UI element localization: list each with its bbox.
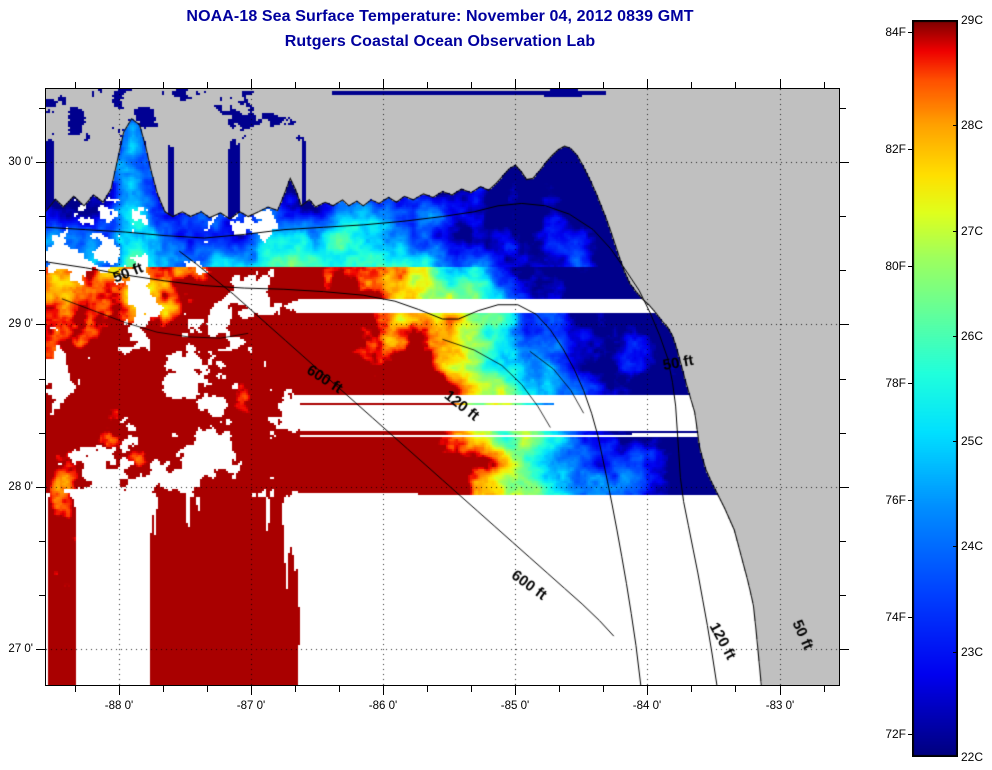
colorbar-tick-fahrenheit [908,617,913,618]
colorbar-gradient [912,20,958,757]
colorbar-tick-celsius [953,441,958,442]
y-tick-right [840,649,849,650]
x-tick-top [207,82,208,88]
x-tick-bottom [647,686,648,695]
colorbar-label-celsius: 28C [961,118,983,132]
x-axis-label: -84 0' [633,700,661,712]
colorbar-label-fahrenheit: 76F [876,493,906,507]
x-axis-label: -87 0' [237,700,265,712]
y-tick-right [840,162,849,163]
x-tick-bottom [163,686,164,692]
y-tick-left [39,216,45,217]
x-tick-bottom [383,686,384,695]
colorbar-label-fahrenheit: 72F [876,727,906,741]
colorbar-label-celsius: 23C [961,645,983,659]
x-tick-bottom [515,686,516,695]
x-axis-label: -88 0' [105,700,133,712]
y-tick-right [840,433,846,434]
chart-title: NOAA-18 Sea Surface Temperature: Novembe… [0,4,880,54]
x-tick-bottom [339,686,340,692]
y-tick-left [36,162,45,163]
colorbar-label-fahrenheit: 84F [876,25,906,39]
x-axis-label: -86 0' [369,700,397,712]
x-tick-bottom [824,686,825,692]
y-axis-label: 27 0' [0,643,33,655]
x-tick-bottom [559,686,560,692]
y-tick-left [36,487,45,488]
y-tick-left [39,433,45,434]
x-tick-bottom [471,686,472,692]
y-tick-left [36,324,45,325]
colorbar-tick-fahrenheit [908,500,913,501]
title-line-2: Rutgers Coastal Ocean Observation Lab [0,29,880,54]
colorbar-label-fahrenheit: 82F [876,142,906,156]
colorbar-tick-celsius [953,336,958,337]
y-tick-right [840,541,846,542]
y-axis-label: 29 0' [0,318,33,330]
y-tick-left [36,649,45,650]
colorbar-tick-fahrenheit [908,383,913,384]
y-tick-right [840,324,849,325]
x-tick-top [339,82,340,88]
x-tick-bottom [603,686,604,692]
y-tick-right [840,216,846,217]
bathymetry-contour-layer [46,89,839,685]
x-tick-bottom [780,686,781,695]
y-tick-right [840,595,846,596]
colorbar-label-celsius: 27C [961,224,983,238]
y-tick-right [840,270,846,271]
x-tick-top [824,82,825,88]
x-tick-top [515,79,516,88]
x-tick-bottom [251,686,252,695]
x-axis-label: -83 0' [766,700,794,712]
x-tick-top [691,82,692,88]
colorbar-label-celsius: 22C [961,750,983,764]
y-tick-left [39,541,45,542]
x-tick-top [163,82,164,88]
y-axis-label: 28 0' [0,481,33,493]
x-tick-top [647,79,648,88]
x-tick-bottom [735,686,736,692]
colorbar-label-fahrenheit: 74F [876,610,906,624]
colorbar-label-fahrenheit: 78F [876,376,906,390]
x-tick-top [251,79,252,88]
colorbar-tick-fahrenheit [908,734,913,735]
y-tick-right [840,108,846,109]
colorbar-tick-celsius [953,125,958,126]
x-tick-top [471,82,472,88]
x-tick-top [603,82,604,88]
colorbar-label-celsius: 25C [961,434,983,448]
x-tick-bottom [119,686,120,695]
y-tick-left [39,270,45,271]
colorbar-tick-fahrenheit [908,266,913,267]
sst-map-plot [45,88,840,686]
colorbar-tick-celsius [953,652,958,653]
colorbar-tick-celsius [953,546,958,547]
x-tick-bottom [295,686,296,692]
temperature-colorbar [912,20,958,757]
y-tick-right [840,487,849,488]
x-tick-top [75,82,76,88]
x-tick-top [780,79,781,88]
y-tick-left [39,595,45,596]
x-tick-top [119,79,120,88]
x-tick-top [559,82,560,88]
x-tick-bottom [75,686,76,692]
colorbar-label-celsius: 24C [961,539,983,553]
x-tick-top [295,82,296,88]
y-tick-left [39,108,45,109]
x-tick-bottom [207,686,208,692]
colorbar-label-celsius: 26C [961,329,983,343]
x-tick-bottom [691,686,692,692]
x-axis-label: -85 0' [501,700,529,712]
colorbar-tick-celsius [953,231,958,232]
colorbar-tick-fahrenheit [908,149,913,150]
y-tick-right [840,379,846,380]
y-axis-label: 30 0' [0,156,33,168]
colorbar-tick-fahrenheit [908,32,913,33]
colorbar-label-celsius: 29C [961,13,983,27]
x-tick-top [735,82,736,88]
x-tick-top [383,79,384,88]
x-tick-top [427,82,428,88]
x-tick-bottom [427,686,428,692]
y-tick-left [39,379,45,380]
colorbar-label-fahrenheit: 80F [876,259,906,273]
title-line-1: NOAA-18 Sea Surface Temperature: Novembe… [0,4,880,29]
